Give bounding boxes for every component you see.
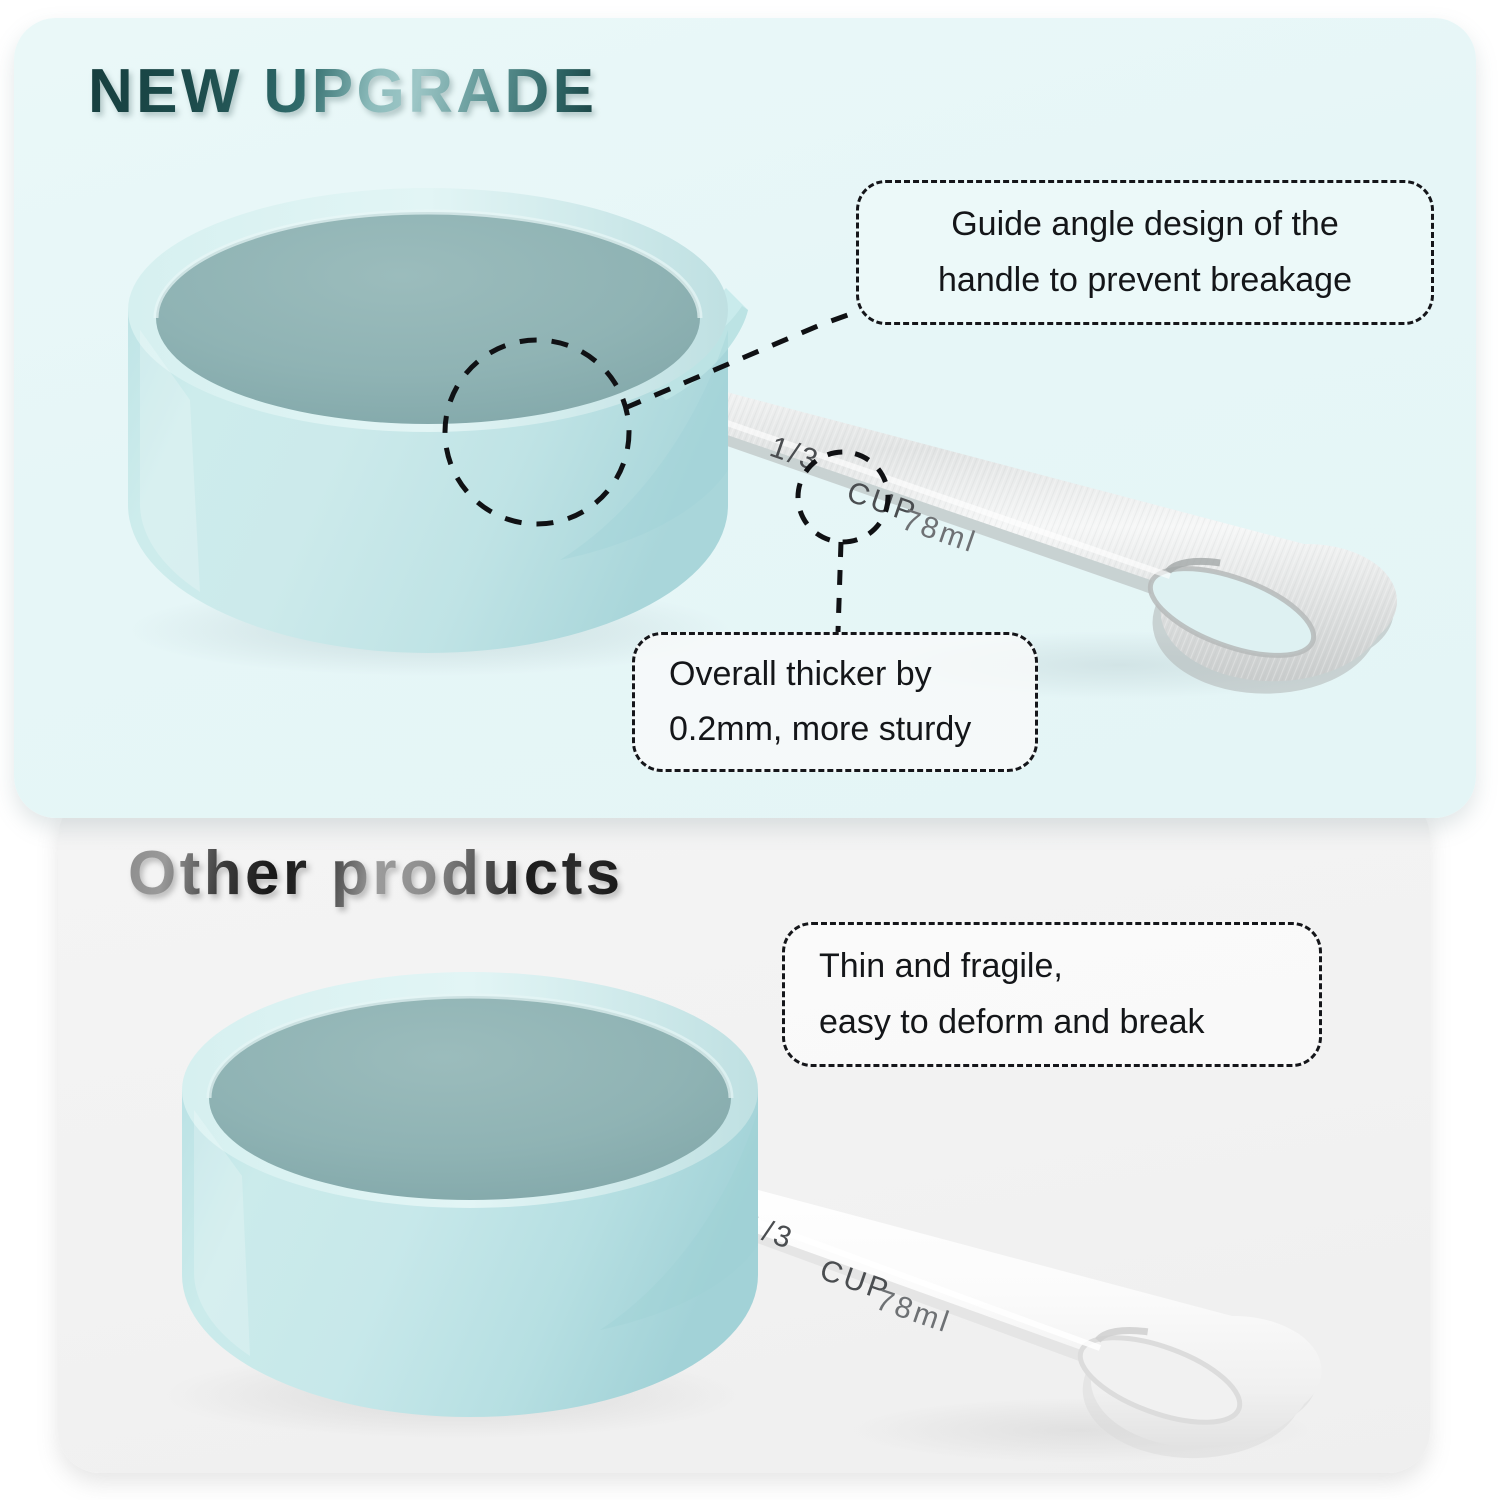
callout-thickness: Overall thicker by 0.2mm, more sturdy — [632, 632, 1038, 772]
callout-fragile-line1: Thin and fragile, — [819, 939, 1063, 994]
callout-fragile-line2: easy to deform and break — [819, 995, 1205, 1050]
callout-thickness-line2: 0.2mm, more sturdy — [669, 702, 971, 757]
callout-thickness-line1: Overall thicker by — [669, 647, 932, 702]
page-title-other-products: Other products — [128, 838, 624, 909]
callout-guide-angle: Guide angle design of the handle to prev… — [856, 180, 1434, 325]
callout-guide-line2: handle to prevent breakage — [938, 253, 1352, 308]
callout-fragile: Thin and fragile, easy to deform and bre… — [782, 922, 1322, 1067]
comparison-infographic: 1/3 CUP 78ml — [0, 0, 1498, 1500]
callout-guide-line1: Guide angle design of the — [951, 197, 1339, 252]
page-title-new-upgrade: NEW UPGRADE — [88, 56, 597, 127]
